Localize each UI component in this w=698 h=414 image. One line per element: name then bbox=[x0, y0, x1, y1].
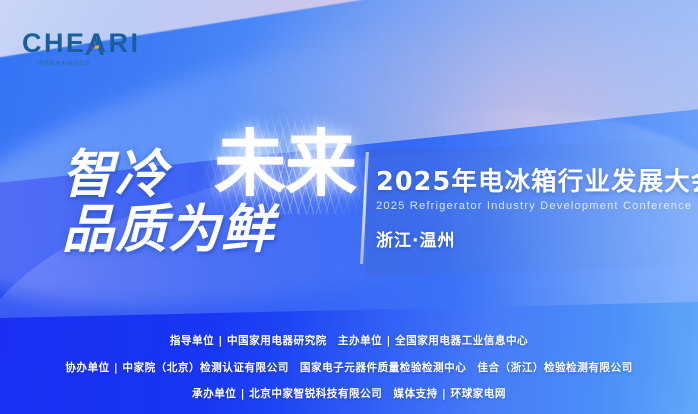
slogan-line-1: 智冷 未来 bbox=[62, 150, 362, 201]
footer-line-3: 承办单位 | 北京中家智锐科技有限公司 媒体支持 | 环球家电网 bbox=[0, 389, 698, 400]
slogan-solid-text: 智冷 bbox=[62, 150, 168, 201]
cheari-a-mark-icon bbox=[83, 36, 105, 56]
footer-credits: 指导单位 | 中国家用电器研究院 主办单位 | 全国家用电器工业信息中心 协办单… bbox=[0, 336, 698, 400]
conference-poster: CHEARI 中国家用电器研究院 智冷 未来 品质为鲜 2025年电冰箱行业发展… bbox=[0, 0, 698, 414]
slogan-line-2: 品质为鲜 bbox=[62, 205, 362, 256]
conference-title-en: 2025 Refrigerator Industry Development C… bbox=[376, 200, 698, 212]
logo-subtitle: 中国家用电器研究院 bbox=[22, 60, 152, 67]
slogan-line2-text: 品质为鲜 bbox=[62, 205, 274, 256]
slogan-ice-text: 未来 bbox=[214, 128, 356, 200]
conference-title-block: 2025年电冰箱行业发展大会 2025 Refrigerator Industr… bbox=[376, 168, 698, 251]
cheari-logo: CHEARI 中国家用电器研究院 bbox=[22, 30, 152, 67]
conference-title-cn: 2025年电冰箱行业发展大会 bbox=[376, 168, 698, 196]
slogan-block: 智冷 未来 品质为鲜 bbox=[62, 150, 362, 256]
footer-line-2: 协办单位 | 中家院（北京）检测认证有限公司 国家电子元器件质量检验检测中心 佳… bbox=[0, 363, 698, 374]
conference-location: 浙江·温州 bbox=[376, 226, 698, 251]
footer-line-1: 指导单位 | 中国家用电器研究院 主办单位 | 全国家用电器工业信息中心 bbox=[0, 336, 698, 347]
